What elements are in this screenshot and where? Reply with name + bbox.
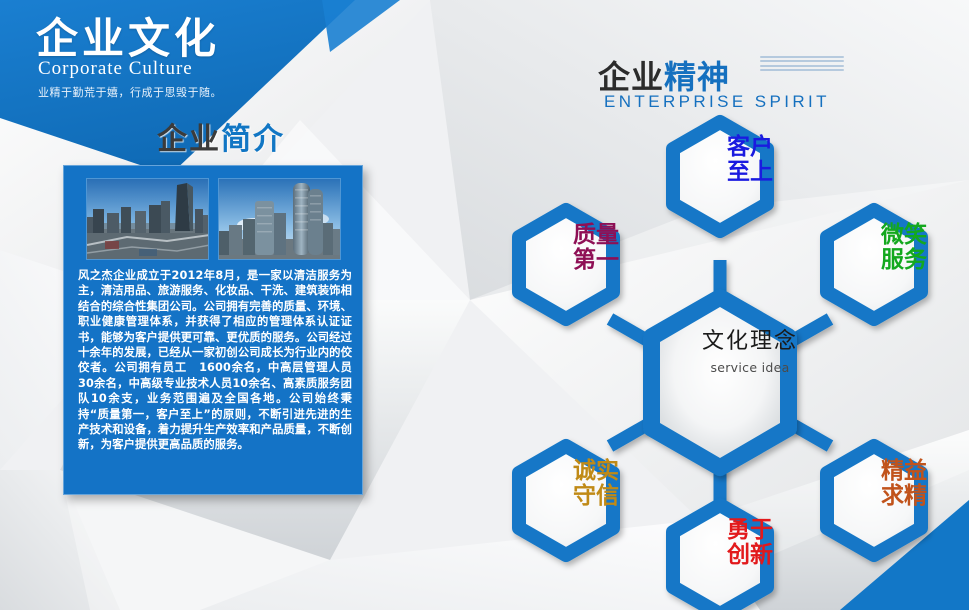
hex-node-excellence [827,446,921,555]
company-intro-text: 风之杰企业成立于2012年8月，是一家以清洁服务为主，清洁用品、旅游服务、化妆品… [78,268,352,453]
city-skyline-photo-2 [218,178,341,260]
intro-heading-blue: 简介 [221,122,285,157]
company-intro-card: 风之杰企业成立于2012年8月，是一家以清洁服务为主，清洁用品、旅游服务、化妆品… [63,165,363,495]
hex-node-innovation [673,505,767,610]
banner-title-en: Corporate Culture [38,58,193,80]
banner-motto: 业精于勤荒于嬉，行成于思毁于随。 [38,84,222,100]
spirit-heading-blue: 精神 [664,58,730,96]
hex-node-customer-first [673,122,767,231]
spirit-heading: 企业精神 ENTERPRISE SPIRIT [598,52,858,114]
hex-node-quality-first [519,210,613,319]
spirit-heading-dark: 企业 [598,58,664,96]
culture-hexagon-diagram [470,110,969,610]
poster-canvas: 企业文化 Corporate Culture 业精于勤荒于嬉，行成于思毁于随。 … [0,0,969,610]
banner-title-cn: 企业文化 [36,16,220,62]
decorative-microtext [760,56,844,86]
hex-node-smile-service [827,210,921,319]
photo-strip [86,178,342,260]
hex-center [652,298,788,467]
hex-node-integrity [519,446,613,555]
intro-heading-dark: 企业 [157,122,221,157]
spirit-heading-en: ENTERPRISE SPIRIT [604,92,830,112]
intro-heading: 企业简介 [157,114,285,158]
city-skyline-photo-1 [86,178,209,260]
